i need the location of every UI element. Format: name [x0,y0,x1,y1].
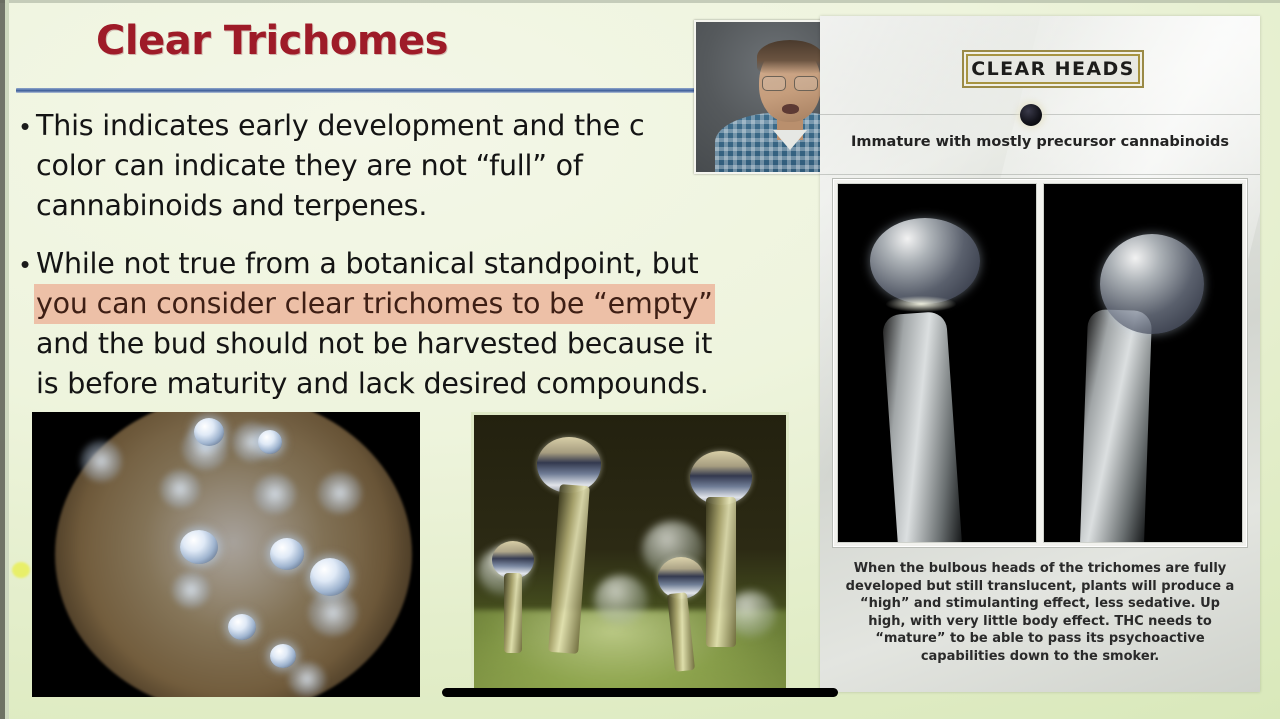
trichome-capitate-stalked [534,437,604,647]
trichome-droplet [228,614,256,640]
bullet-line-highlighted: you can consider clear trichomes to be “… [34,284,715,324]
bullet-text: While not true from a botanical standpoi… [36,244,715,404]
trichome-stalk [1080,309,1152,543]
trichome-droplet [194,418,224,446]
clear-heads-info-panel: CLEAR HEADS Immature with mostly precurs… [820,16,1260,692]
trichome-glow [886,296,956,312]
trichome-stalk [667,592,695,672]
frame-edge-top [0,0,1280,3]
panel-caption-bottom: When the bulbous heads of the trichomes … [842,560,1238,665]
trichome-blur [318,472,362,514]
frame-edge-left-inner [5,0,9,719]
trichome-stalk [706,497,736,647]
trichome-droplet [270,538,304,570]
trichome-droplet [310,558,350,596]
clear-heads-heading-label: CLEAR HEADS [971,58,1134,80]
bullet-marker: • [14,106,36,226]
trichome-photo-pair [832,178,1248,548]
presenter-mouth [782,104,799,114]
list-item: • This indicates early development and t… [14,106,804,226]
trichome-droplet [270,644,296,668]
trichome-head [870,218,980,304]
clear-heads-heading-box: CLEAR HEADS [962,50,1144,88]
scan-line [820,174,1260,175]
video-scrub-bar[interactable] [442,688,838,697]
trichome-blur [172,572,210,608]
glasses-icon [762,76,818,89]
trichome-microscope-photo-left [837,183,1037,543]
bullet-marker: • [14,244,36,404]
presenter-hair [757,40,823,74]
trichome-blur [160,470,200,508]
trichome-stalk [504,573,522,653]
laser-pointer-dot [12,562,30,578]
bullet-line: is before maturity and lack desired comp… [36,364,715,404]
trichome-stalk [882,311,962,543]
list-item: • While not true from a botanical standp… [14,244,804,404]
bullet-line: and the bud should not be harvested beca… [36,324,715,364]
slide-canvas: Clear Trichomes • This indicates early d… [0,0,1280,719]
trichome-blur [288,662,326,696]
page-title: Clear Trichomes [96,18,448,64]
trichome-blur [308,590,358,636]
trichome-microscope-photo-right [1043,183,1243,543]
bullet-line: While not true from a botanical standpoi… [36,244,715,284]
bullet-line: This indicates early development and the… [36,106,644,146]
trichome-droplet [258,430,282,454]
trichome-head [1100,234,1204,334]
trichome-droplet [180,530,218,564]
microscope-photo-bottom-left [32,412,420,697]
clear-head-dot-icon [1020,104,1042,126]
trichome-capitate-stalked [488,541,538,651]
panel-caption-top: Immature with mostly precursor cannabino… [840,132,1240,153]
macro-photo-bottom-center [471,412,789,697]
bullet-list: • This indicates early development and t… [14,106,804,422]
trichome-blur [80,440,122,482]
bullet-text: This indicates early development and the… [36,106,644,226]
trichome-blur [254,474,296,514]
bullet-line: color can indicate they are not “full” o… [36,146,644,186]
trichome-capitate-stalked [654,557,708,667]
trichome-stalk [548,484,590,654]
bullet-line: cannabinoids and terpenes. [36,186,644,226]
